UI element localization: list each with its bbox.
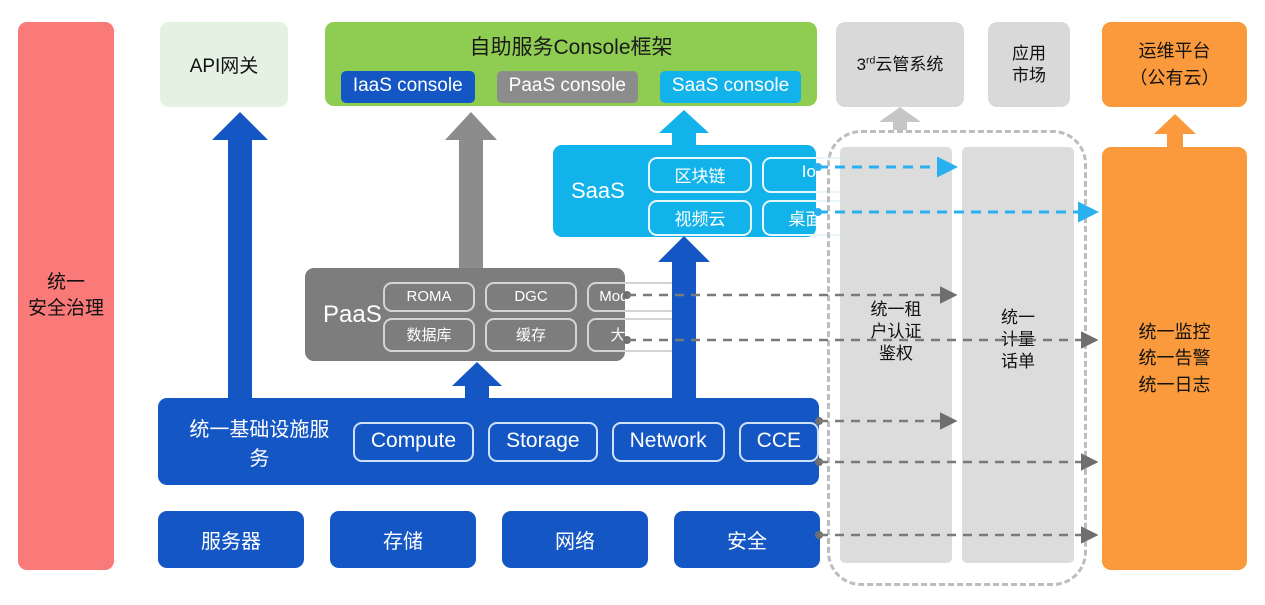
saas-service-video-cloud[interactable]: 视频云	[648, 200, 752, 236]
console-button-row: IaaS console PaaS console SaaS console	[341, 71, 801, 103]
hardware-security-box[interactable]: 安全	[674, 511, 820, 568]
saas-layer-box: SaaS 区块链 IoT 视频云 桌面云	[553, 145, 816, 237]
paas-service-grid: ROMA DGC ModelArts 数据库 缓存 大数据	[383, 282, 679, 352]
api-gateway-label: API网关	[190, 51, 259, 78]
console-framework-title: 自助服务Console框架	[469, 31, 672, 61]
third-party-cloud-mgmt-box[interactable]: 3rd云管系统	[836, 22, 964, 107]
paas-service-database[interactable]: 数据库	[383, 318, 475, 352]
shared-service-auth-label: 统一租 户认证 鉴权	[840, 299, 952, 364]
infrastructure-inner: 统一基础设施服务 Compute Storage Network CCE	[180, 413, 819, 471]
hardware-server-label: 服务器	[201, 525, 261, 554]
ops-capability-alarm: 统一告警	[1139, 345, 1211, 371]
ops-platform-box[interactable]: 运维平台 （公有云）	[1102, 22, 1247, 107]
shared-service-metering-label: 统一 计量 话单	[962, 307, 1074, 372]
app-market-line1: 应用	[1012, 43, 1046, 64]
paas-layer-label: PaaS	[323, 301, 382, 329]
auth-line2: 户认证	[840, 321, 952, 343]
console-framework-box: 自助服务Console框架 IaaS console PaaS console …	[325, 22, 817, 106]
ops-capabilities-box: 统一监控 统一告警 统一日志	[1102, 147, 1247, 570]
metering-line2: 计量	[962, 329, 1074, 351]
auth-line1: 统一租	[840, 299, 952, 321]
shared-service-column-auth[interactable]: 统一租 户认证 鉴权	[840, 147, 952, 563]
arrow-saas-to-console	[659, 110, 709, 145]
infra-service-cce[interactable]: CCE	[739, 422, 819, 462]
app-market-box[interactable]: 应用 市场	[988, 22, 1070, 107]
infrastructure-label: 统一基础设施服务	[180, 413, 339, 471]
iaas-console-button[interactable]: IaaS console	[341, 71, 475, 103]
infra-service-network[interactable]: Network	[612, 422, 725, 462]
auth-line3: 鉴权	[840, 343, 952, 365]
arrow-infra-to-paas	[452, 362, 502, 398]
security-governance-panel: 统一 安全治理	[18, 22, 114, 570]
hardware-server-box[interactable]: 服务器	[158, 511, 304, 568]
arrow-ops-capabilities-to-platform	[1154, 114, 1196, 147]
paas-service-bigdata[interactable]: 大数据	[587, 318, 679, 352]
paas-console-button[interactable]: PaaS console	[497, 71, 638, 103]
ops-capability-monitoring: 统一监控	[1139, 319, 1211, 345]
app-market-line2: 市场	[1012, 65, 1046, 86]
ops-platform-line2: （公有云）	[1130, 65, 1220, 91]
paas-service-roma[interactable]: ROMA	[383, 282, 475, 312]
paas-service-dgc[interactable]: DGC	[485, 282, 577, 312]
metering-line3: 话单	[962, 351, 1074, 373]
ops-capability-logging: 统一日志	[1139, 372, 1211, 398]
hardware-security-label: 安全	[727, 525, 767, 554]
arrow-paas-to-console	[445, 112, 497, 268]
saas-layer-label: SaaS	[571, 178, 625, 204]
paas-service-cache[interactable]: 缓存	[485, 318, 577, 352]
paas-service-modelarts[interactable]: ModelArts	[587, 282, 679, 312]
shared-service-column-metering[interactable]: 统一 计量 话单	[962, 147, 1074, 563]
hardware-storage-box[interactable]: 存储	[330, 511, 476, 568]
third-party-prefix: 3	[857, 55, 866, 74]
ops-platform-line1: 运维平台	[1139, 38, 1211, 64]
metering-line1: 统一	[962, 307, 1074, 329]
security-governance-line2: 安全治理	[28, 296, 104, 322]
saas-service-blockchain[interactable]: 区块链	[648, 157, 752, 193]
paas-layer-box: PaaS ROMA DGC ModelArts 数据库 缓存 大数据	[305, 268, 625, 361]
infrastructure-layer-box: 统一基础设施服务 Compute Storage Network CCE	[158, 398, 819, 485]
saas-console-button[interactable]: SaaS console	[660, 71, 801, 103]
architecture-diagram: 统一 安全治理 API网关 自助服务Console框架 IaaS console…	[0, 0, 1265, 605]
hardware-network-box[interactable]: 网络	[502, 511, 648, 568]
arrow-infra-to-api-gateway	[212, 112, 268, 398]
infra-service-storage[interactable]: Storage	[488, 422, 598, 462]
infra-service-compute[interactable]: Compute	[353, 422, 474, 462]
third-party-cloud-mgmt-label: 3rd云管系统	[857, 54, 944, 75]
hardware-storage-label: 存储	[383, 525, 423, 554]
arrow-shared-to-third-party	[879, 107, 921, 130]
api-gateway-box[interactable]: API网关	[160, 22, 288, 107]
third-party-suffix: 云管系统	[875, 55, 943, 74]
hardware-network-label: 网络	[555, 525, 595, 554]
security-governance-line1: 统一	[47, 270, 85, 296]
